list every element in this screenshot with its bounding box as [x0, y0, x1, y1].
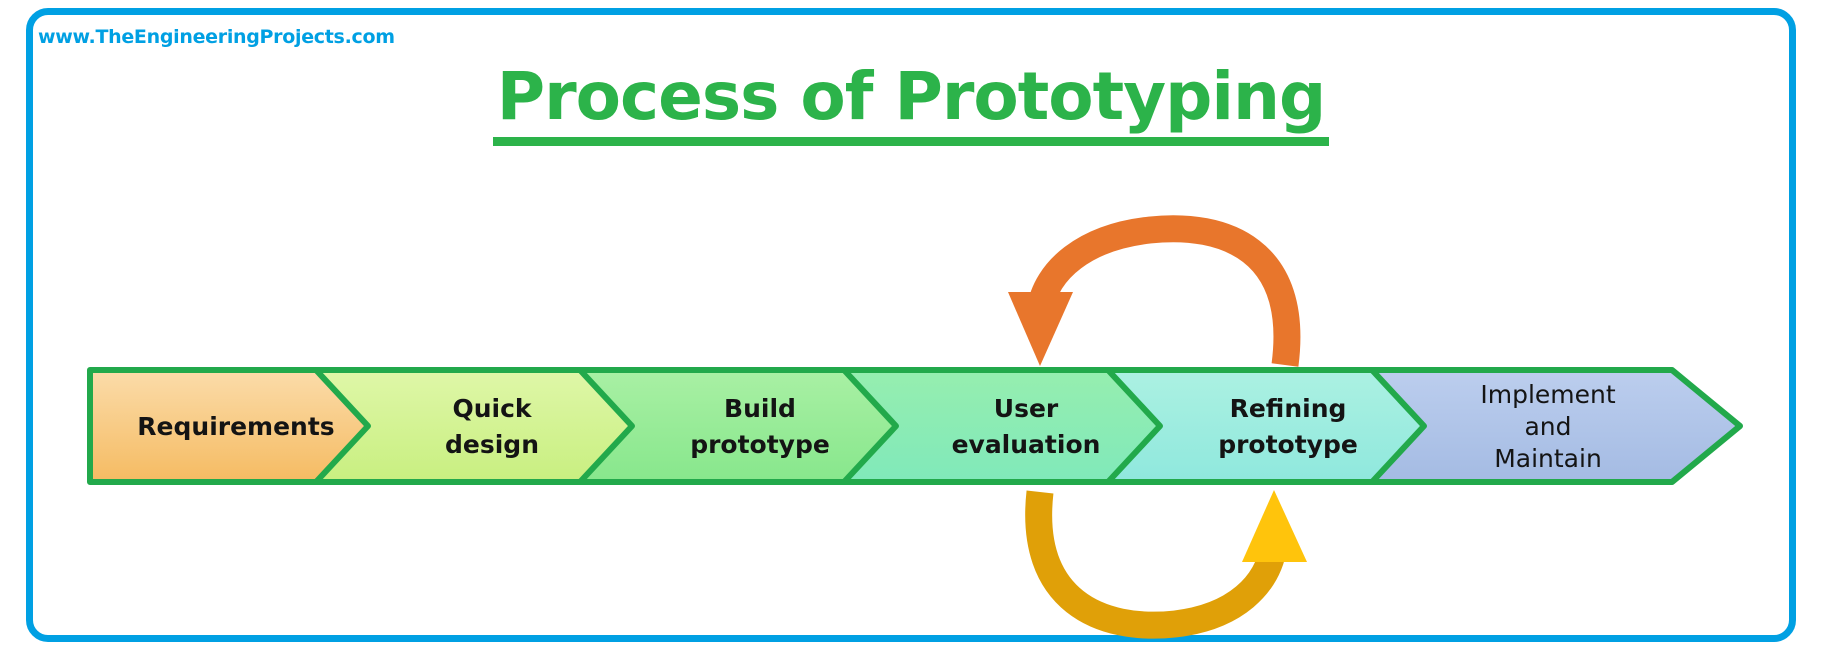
evaluate-to-refine-arrowhead: [1242, 490, 1307, 562]
process-step-label-build-prototype-line1: Build: [724, 394, 796, 423]
process-step-refining-prototype[interactable]: Refining prototype: [1108, 370, 1428, 482]
process-step-label-implement-line1: Implement: [1480, 380, 1616, 409]
process-step-build-prototype[interactable]: Build prototype: [580, 370, 900, 482]
chevron-shape-user-evaluation: [844, 370, 1164, 482]
process-step-user-evaluation[interactable]: User evaluation: [844, 370, 1164, 482]
process-step-label-refining-prototype-line2: prototype: [1218, 430, 1358, 459]
evaluate-to-refine-arc: [1039, 492, 1274, 625]
process-step-quick-design[interactable]: Quick design: [316, 370, 636, 482]
process-step-label-implement-line3: Maintain: [1494, 444, 1602, 473]
title-container: Process of Prototyping: [0, 62, 1822, 146]
prototyping-process-infographic: www.TheEngineeringProjects.com Process o…: [0, 0, 1822, 654]
process-step-label-refining-prototype-line1: Refining: [1230, 394, 1347, 423]
refine-to-evaluate-arc: [1040, 229, 1287, 365]
chevron-shape-build-prototype: [580, 370, 900, 482]
site-watermark: www.TheEngineeringProjects.com: [38, 26, 395, 48]
process-step-label-implement-line2: and: [1524, 412, 1571, 441]
process-chevron-band: Requirements Quick design Build prototyp…: [0, 364, 1822, 494]
evaluate-to-refine-arrow: [1039, 490, 1307, 625]
process-step-implement-and-maintain[interactable]: Implement and Maintain: [1372, 370, 1740, 482]
process-step-label-user-evaluation-line1: User: [994, 394, 1059, 423]
chevron-shape-quick-design: [316, 370, 636, 482]
process-step-label-quick-design-line1: Quick: [452, 394, 532, 423]
process-step-label-user-evaluation-line2: evaluation: [952, 430, 1101, 459]
process-step-label-quick-design-line2: design: [445, 430, 539, 459]
page-title: Process of Prototyping: [493, 62, 1330, 146]
process-step-label-requirements: Requirements: [137, 412, 334, 441]
process-step-label-build-prototype-line2: prototype: [690, 430, 830, 459]
refine-to-evaluate-arrow: [1008, 229, 1287, 366]
refine-to-evaluate-arrowhead: [1008, 292, 1073, 366]
chevron-shape-refining-prototype: [1108, 370, 1428, 482]
